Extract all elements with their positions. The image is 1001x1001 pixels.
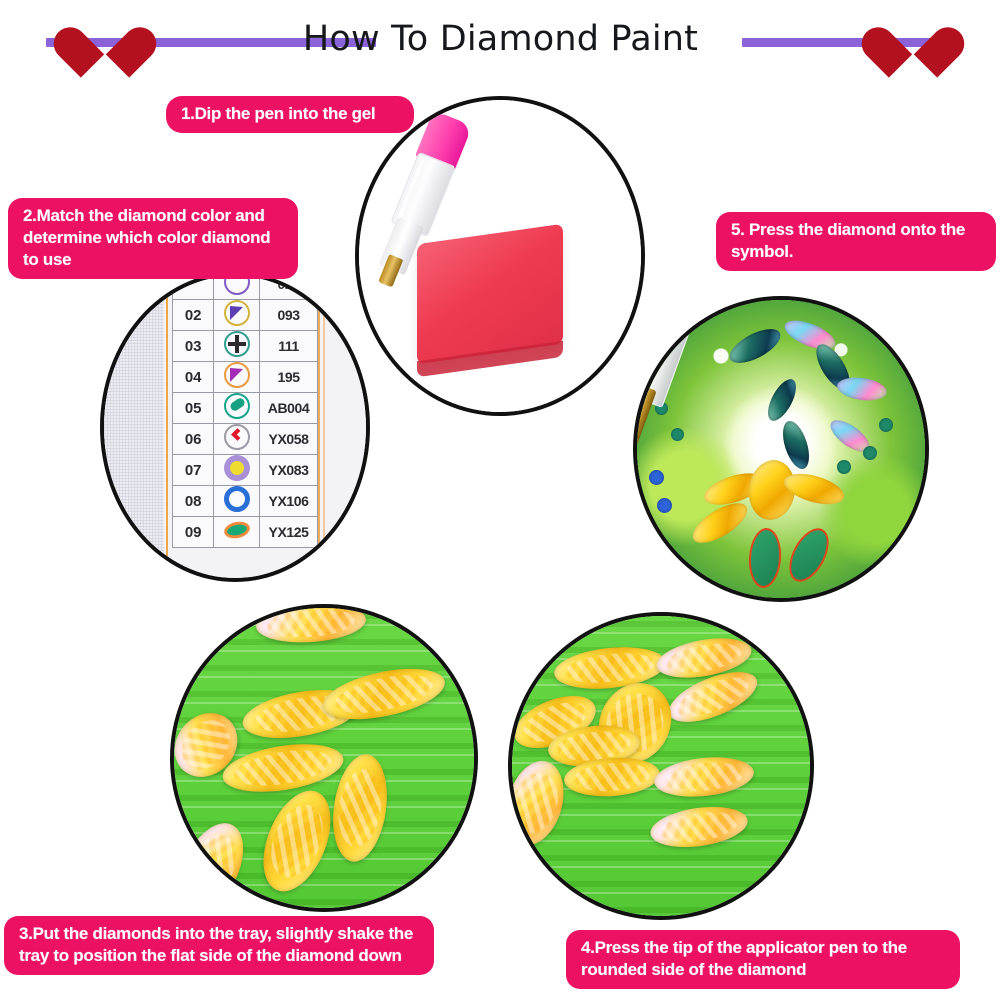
gem-dot [863,446,877,460]
symbol-filled-triangle-icon [224,300,250,326]
chart-cell-code: 195 [260,362,318,393]
symbol-open-ring-icon [224,486,250,512]
symbol-plus-cross-icon [224,331,250,357]
symbol-diagonal-capsule-icon [224,393,250,419]
photo-pen-dipped-in-gel [355,96,645,416]
gem-green-outline [781,522,836,588]
diamond [652,753,755,801]
table-row: 02093 [173,300,318,331]
diamond [170,813,256,912]
chart-margin-line [318,276,320,578]
photo-diamond-pressed-on-canvas [633,296,929,602]
infographic-canvas: How To Diamond Paint 0280209303111041950… [0,0,1001,1001]
mandala-canvas [633,296,929,602]
chart-cell-symbol [214,300,260,331]
chart-cell-number: 06 [173,424,214,455]
chart-cell-number: 09 [173,517,214,548]
gem [836,375,889,404]
chart-cell-code: YX058 [260,424,318,455]
gem-green-outline [747,527,783,589]
photo-diamonds-in-tray [170,604,478,912]
symbol-leaf-eye-icon [224,517,250,543]
applicator-pen [633,296,704,466]
chart-cell-code: YX083 [260,455,318,486]
color-chart-table: 02802093031110419505AB00406YX05807YX0830… [172,272,318,548]
gem-dot [837,460,851,474]
symbol-filled-triangle-icon [224,362,250,388]
gem-dot [671,428,684,441]
green-tray [170,604,478,912]
chart-cell-symbol [214,424,260,455]
chart-cell-code: AB004 [260,393,318,424]
pen-clear-tip [508,612,566,697]
chart-margin-line [323,276,325,578]
chart-cell-symbol [214,517,260,548]
green-tray [508,612,814,920]
symbol-left-chevron-icon [224,424,250,450]
header: How To Diamond Paint [0,0,1001,78]
chart-cell-symbol [214,486,260,517]
chart-cell-number: 08 [173,486,214,517]
table-row: 07YX083 [173,455,318,486]
gel-pad [417,224,563,365]
chart-cell-symbol [214,331,260,362]
diamond [219,737,346,800]
chart-cell-symbol [214,362,260,393]
table-row: 06YX058 [173,424,318,455]
photo-scene [359,100,641,412]
page-title: How To Diamond Paint [0,17,1001,61]
chart-cell-code: 093 [260,300,318,331]
gem-dot [657,498,672,513]
table-row: 04195 [173,362,318,393]
diamond [508,754,573,852]
step-1-caption: 1.Dip the pen into the gel [166,96,414,133]
step-5-caption: 5. Press the diamond onto the symbol. [716,212,996,271]
chart-cell-code: YX106 [260,486,318,517]
symbol-dot-in-ring-icon [224,455,250,481]
chart-cell-code: 111 [260,331,318,362]
chart-cell-number: 04 [173,362,214,393]
chart-cell-number: 07 [173,455,214,486]
diamond [255,604,367,646]
color-chart-body: 02802093031110419505AB00406YX05807YX0830… [173,272,318,548]
step-3-caption: 3.Put the diamonds into the tray, slight… [4,916,434,975]
chart-cell-code: YX125 [260,517,318,548]
gem-dot [649,470,664,485]
photo-pen-picking-up-diamond [508,612,814,920]
chart-cell-symbol [214,455,260,486]
canvas-weave-texture [104,276,164,578]
photo-color-symbol-chart: 02802093031110419505AB00406YX05807YX0830… [100,272,370,582]
table-row: 09YX125 [173,517,318,548]
chart-cell-symbol [214,393,260,424]
table-row: 03111 [173,331,318,362]
gem [725,322,786,369]
pen-brass-nib [633,385,657,459]
step-2-caption: 2.Match the diamond color and determine … [8,198,298,279]
chart-cell-number: 03 [173,331,214,362]
gem [762,375,801,425]
diamond [648,801,750,852]
table-row: 05AB004 [173,393,318,424]
table-row: 08YX106 [173,486,318,517]
gem-dot [879,418,893,432]
step-4-caption: 4.Press the tip of the applicator pen to… [566,930,960,989]
chart-cell-number: 02 [173,300,214,331]
diamond [250,781,343,901]
chart-margin-line [166,276,168,578]
chart-cell-number: 05 [173,393,214,424]
